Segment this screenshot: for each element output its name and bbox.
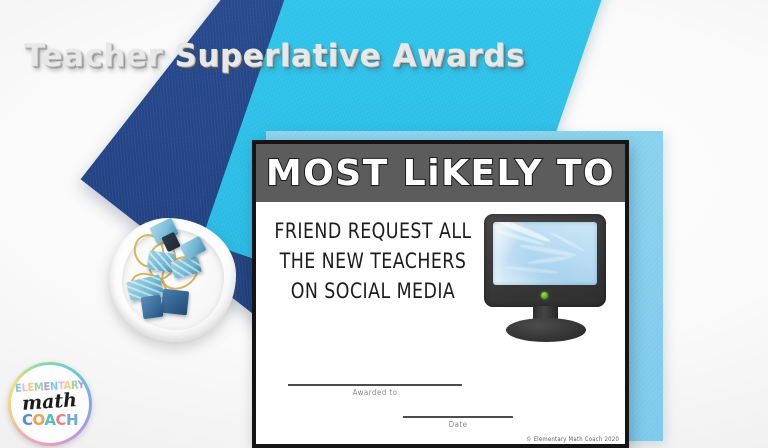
monitor-stand-base <box>506 318 586 342</box>
monitor-bezel <box>484 214 606 307</box>
date-line <box>403 416 513 418</box>
binder-clip <box>161 289 189 316</box>
date-label: Date <box>403 420 513 429</box>
award-text-line-1: FRIEND REQUEST ALL <box>271 216 475 246</box>
logo-line-math: math <box>22 391 78 414</box>
monitor-screen <box>493 222 597 285</box>
photo-scene: MOST LiKELY TO FRIEND REQUEST ALL THE NE… <box>0 0 768 448</box>
certificate-header-banner: MOST LiKELY TO <box>256 144 625 202</box>
binder-clip <box>141 295 164 320</box>
certificate-award-text: FRIEND REQUEST ALL THE NEW TEACHERS ON S… <box>271 216 475 306</box>
monitor-power-led <box>541 292 548 299</box>
awarded-to-label: Awarded to <box>288 388 462 397</box>
award-text-line-3: ON SOCIAL MEDIA <box>271 276 475 306</box>
elementary-math-coach-logo[interactable]: ELEMENTARY math COACH <box>8 362 92 446</box>
certificate-body: FRIEND REQUEST ALL THE NEW TEACHERS ON S… <box>256 202 625 444</box>
copyright-text: © Elementary Math Coach 2020 <box>526 436 619 443</box>
award-text-line-2: THE NEW TEACHERS <box>271 246 475 276</box>
binder-clip-dish <box>104 212 242 348</box>
page-title: Teacher Superlative Awards <box>24 38 525 74</box>
logo-line-coach: COACH <box>22 413 78 428</box>
certificate-card: MOST LiKELY TO FRIEND REQUEST ALL THE NE… <box>252 140 629 448</box>
logo-face: ELEMENTARY math COACH <box>11 365 89 443</box>
computer-monitor-icon <box>484 214 616 344</box>
certificate-title: MOST LiKELY TO <box>266 153 615 194</box>
awarded-to-line <box>288 384 462 386</box>
